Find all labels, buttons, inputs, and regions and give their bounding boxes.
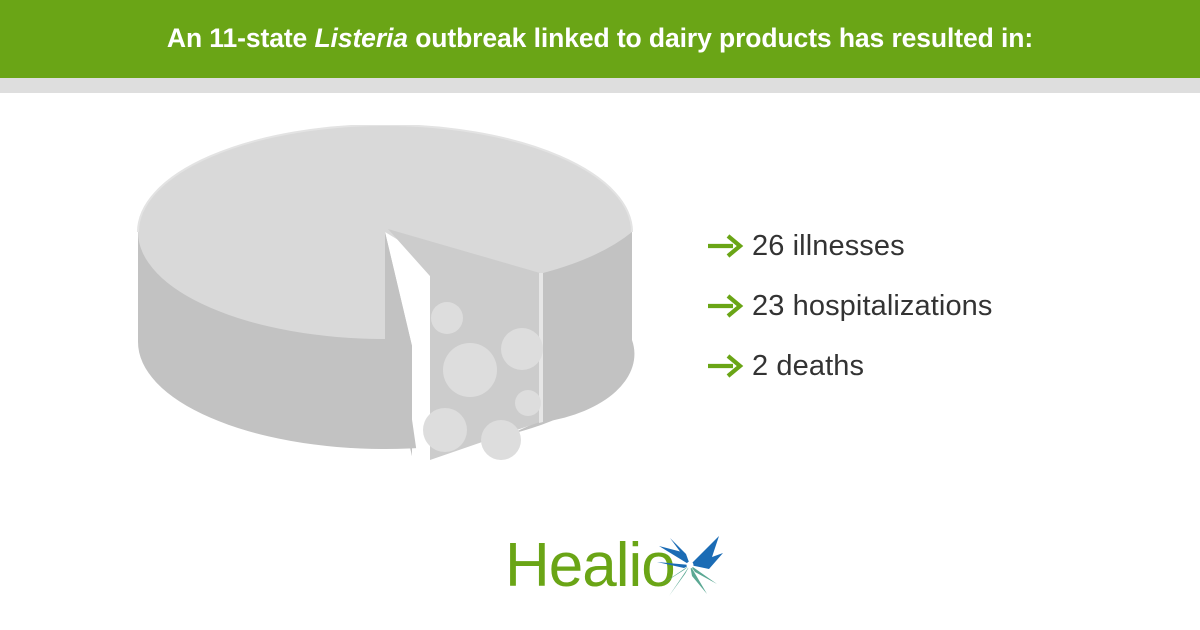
healio-logo-svg: Healio (505, 534, 727, 598)
stat-label: 2 deaths (752, 350, 864, 383)
stat-label: 23 hospitalizations (752, 290, 993, 323)
cheese-hole (431, 302, 463, 334)
header-title: An 11-state Listeria outbreak linked to … (167, 24, 1033, 53)
cheese-hole (481, 420, 521, 460)
infographic-canvas: An 11-state Listeria outbreak linked to … (0, 0, 1200, 630)
cheese-svg (120, 125, 650, 495)
stat-row: 23 hospitalizations (706, 276, 1146, 336)
cheese-wheel-illustration (120, 125, 650, 495)
arrow-right-icon (706, 353, 752, 379)
arrow-right-icon (706, 293, 752, 319)
header-text-before: An 11-state (167, 23, 315, 53)
healio-logo: Healio (505, 534, 727, 598)
stat-row: 26 illnesses (706, 216, 1146, 276)
header-underbar-divider (0, 78, 1200, 93)
header-bar: An 11-state Listeria outbreak linked to … (0, 0, 1200, 78)
cheese-hole (443, 343, 497, 397)
stat-row: 2 deaths (706, 336, 1146, 396)
header-text-after: outbreak linked to dairy products has re… (408, 23, 1033, 53)
cheese-hole (501, 328, 543, 370)
statistics-list: 26 illnesses 23 hospitalizations 2 death… (706, 216, 1146, 396)
stat-label: 26 illnesses (752, 230, 905, 263)
cheese-hole (423, 408, 467, 452)
healio-wordmark: Healio (505, 534, 675, 598)
header-scientific-name: Listeria (314, 23, 407, 53)
cheese-hole (515, 390, 541, 416)
arrow-right-icon (706, 233, 752, 259)
